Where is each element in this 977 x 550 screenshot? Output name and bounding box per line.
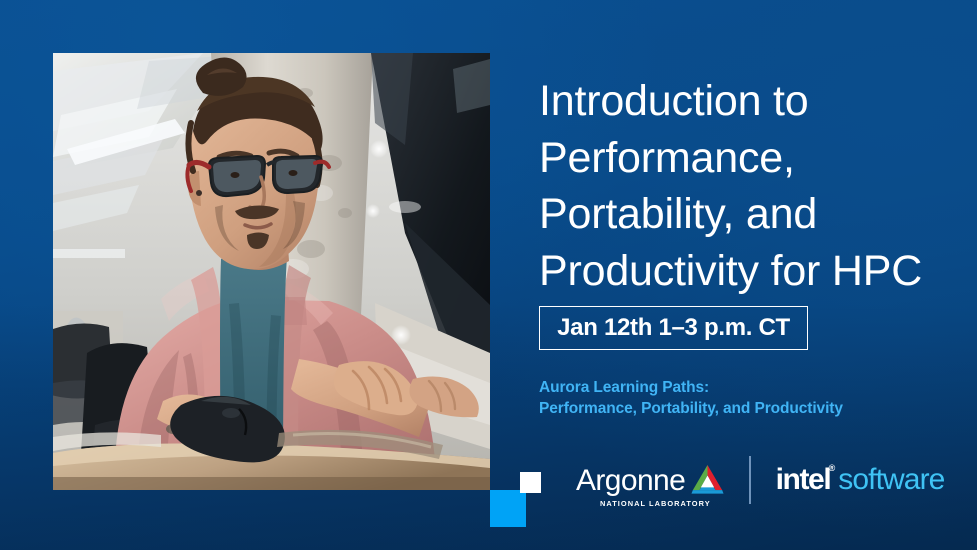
webinar-promo-banner: Introduction to Performance, Portability… <box>0 0 977 550</box>
argonne-triangle-icon <box>690 465 725 495</box>
content-column: Introduction to Performance, Portability… <box>539 0 959 550</box>
intel-trademark-icon: ® <box>829 464 836 473</box>
logo-strip: Argonne NATIONAL LABORATORY intel ® <box>576 452 961 508</box>
date-badge-label: Jan 12th 1–3 p.m. CT <box>557 316 790 340</box>
hero-photo <box>53 53 490 490</box>
argonne-tagline: NATIONAL LABORATORY <box>600 500 711 507</box>
argonne-logo: Argonne NATIONAL LABORATORY <box>576 465 726 496</box>
intel-wordmark-text: intel <box>776 463 831 496</box>
decorative-square-white <box>520 472 541 493</box>
date-badge: Jan 12th 1–3 p.m. CT <box>539 306 808 350</box>
page-title: Introduction to Performance, Portability… <box>539 73 959 299</box>
series-subtitle: Aurora Learning Paths: Performance, Port… <box>539 377 939 419</box>
intel-wordmark: intel ® <box>776 465 831 495</box>
intel-software-logo: intel ® software <box>776 465 945 495</box>
logo-divider <box>749 456 751 504</box>
argonne-wordmark: Argonne <box>576 466 685 496</box>
intel-software-suffix: software <box>838 465 944 495</box>
decorative-square-blue <box>490 490 526 527</box>
